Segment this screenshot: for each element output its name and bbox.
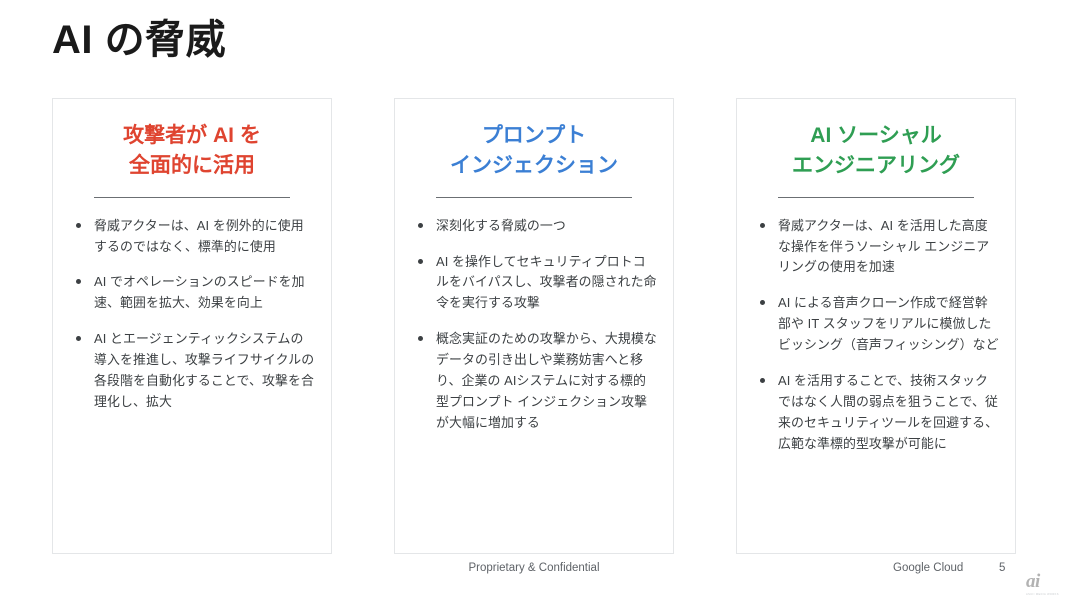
bullet-dot-icon <box>418 223 423 228</box>
card-divider <box>94 197 290 198</box>
logo-mark-text: ai <box>1026 571 1040 592</box>
list-item-text: 深刻化する脅威の一つ <box>436 218 566 233</box>
bullet-dot-icon <box>418 336 423 341</box>
list-item: AI とエージェンティックシステムの導入を推進し、攻撃ライフサイクルの各段階を自… <box>69 329 315 413</box>
list-item: 概念実証のための攻撃から、大規模なデータの引き出しや業務妨害へと移り、企業の A… <box>411 329 657 434</box>
card-heading: 攻撃者が AI を 全面的に活用 <box>123 121 261 181</box>
threat-cards-row: 攻撃者が AI を 全面的に活用 脅威アクターは、AI を例外的に使用するのでは… <box>52 98 1016 554</box>
list-item-text: 脅威アクターは、AI を例外的に使用するのではなく、標準的に使用 <box>94 218 304 254</box>
bullet-dot-icon <box>760 378 765 383</box>
list-item: 脅威アクターは、AI を例外的に使用するのではなく、標準的に使用 <box>69 216 315 258</box>
threat-card-ai-social-engineering: AI ソーシャル エンジニアリング 脅威アクターは、AI を活用した高度な操作を… <box>736 98 1016 554</box>
card-divider <box>778 197 974 198</box>
list-item: 脅威アクターは、AI を活用した高度な操作を伴うソーシャル エンジニアリングの使… <box>753 216 999 279</box>
bullet-dot-icon <box>760 223 765 228</box>
list-item: AI を操作してセキュリティプロトコルをバイパスし、攻撃者の隠された命令を実行す… <box>411 252 657 315</box>
footer-brand-label: Google Cloud <box>893 562 963 574</box>
list-item-text: 脅威アクターは、AI を活用した高度な操作を伴うソーシャル エンジニアリングの使… <box>778 218 989 275</box>
list-item: 深刻化する脅威の一つ <box>411 216 657 237</box>
bullet-dot-icon <box>760 300 765 305</box>
list-item: AI による音声クローン作成で経営幹部や IT スタッフをリアルに模倣したビッシ… <box>753 293 999 356</box>
card-bullet-list: 脅威アクターは、AI を例外的に使用するのではなく、標準的に使用 AI でオペレ… <box>69 216 315 413</box>
list-item-text: AI とエージェンティックシステムの導入を推進し、攻撃ライフサイクルの各段階を自… <box>94 331 314 409</box>
bullet-dot-icon <box>418 259 423 264</box>
card-heading: プロンプト インジェクション <box>450 121 618 181</box>
list-item-text: AI による音声クローン作成で経営幹部や IT スタッフをリアルに模倣したビッシ… <box>778 295 999 352</box>
logo-subtext: ASCII MEDIA WORKS <box>1026 593 1060 596</box>
bullet-dot-icon <box>76 336 81 341</box>
list-item-text: AI を活用することで、技術スタックではなく人間の弱点を狙うことで、従来のセキュ… <box>778 373 998 451</box>
bullet-dot-icon <box>76 223 81 228</box>
card-bullet-list: 深刻化する脅威の一つ AI を操作してセキュリティプロトコルをバイパスし、攻撃者… <box>411 216 657 434</box>
card-heading: AI ソーシャル エンジニアリング <box>792 121 960 181</box>
ai-media-logo-icon: ai ASCII MEDIA WORKS <box>1026 572 1060 596</box>
list-item-text: 概念実証のための攻撃から、大規模なデータの引き出しや業務妨害へと移り、企業の A… <box>436 331 657 430</box>
page-number: 5 <box>999 562 1005 574</box>
page-title: AI の脅威 <box>52 16 226 64</box>
bullet-dot-icon <box>76 279 81 284</box>
list-item: AI を活用することで、技術スタックではなく人間の弱点を狙うことで、従来のセキュ… <box>753 371 999 455</box>
list-item: AI でオペレーションのスピードを加速、範囲を拡大、効果を向上 <box>69 272 315 314</box>
threat-card-attackers-ai: 攻撃者が AI を 全面的に活用 脅威アクターは、AI を例外的に使用するのでは… <box>52 98 332 554</box>
card-bullet-list: 脅威アクターは、AI を活用した高度な操作を伴うソーシャル エンジニアリングの使… <box>753 216 999 455</box>
list-item-text: AI でオペレーションのスピードを加速、範囲を拡大、効果を向上 <box>94 274 305 310</box>
card-divider <box>436 197 632 198</box>
list-item-text: AI を操作してセキュリティプロトコルをバイパスし、攻撃者の隠された命令を実行す… <box>436 254 657 311</box>
threat-card-prompt-injection: プロンプト インジェクション 深刻化する脅威の一つ AI を操作してセキュリティ… <box>394 98 674 554</box>
